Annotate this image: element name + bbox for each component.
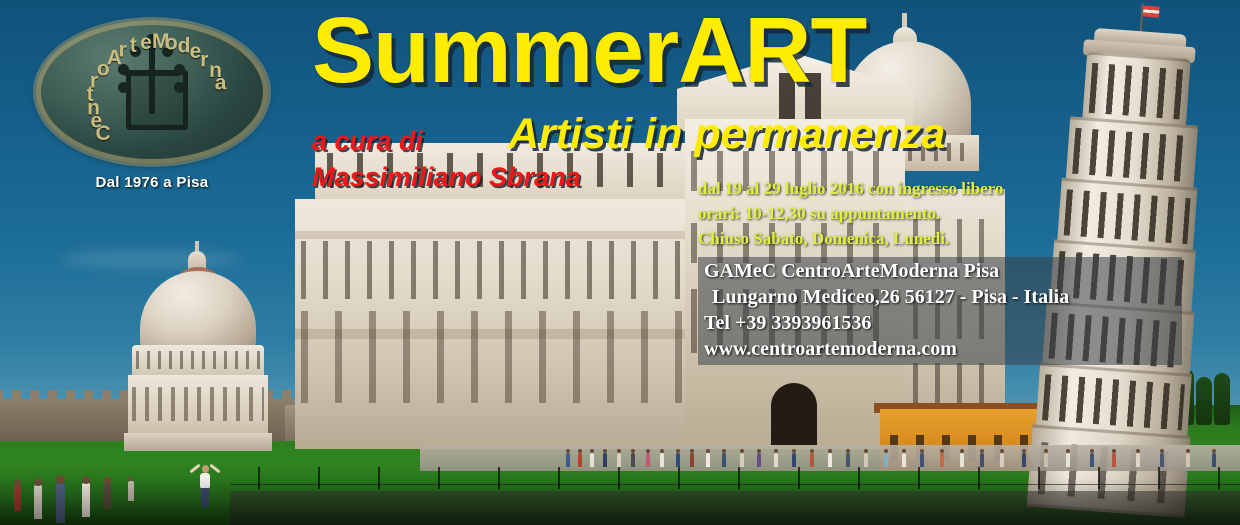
event-info-block: dal 19 al 29 luglio 2016 con ingresso li… [698, 176, 1178, 251]
centroartemoderna-logo[interactable]: C e n t r o A r t e M o d e r n a Dal 19… [28, 14, 276, 204]
info-line-hours: orari: 10-12,30 su appuntamento. [698, 201, 1178, 226]
address-line-website[interactable]: www.centroartemoderna.com [704, 336, 1184, 362]
curator-name: Massimiliano Sbrana [312, 162, 581, 193]
foreground-shadow [0, 477, 1240, 525]
address-block: GAMeC CentroArteModerna Pisa Lungarno Me… [704, 258, 1184, 362]
tree [1214, 373, 1230, 425]
info-line-closed: Chiuso Sabato, Domenica, Lunedi. [698, 226, 1178, 251]
logo-tagline: Dal 1976 a Pisa [28, 174, 276, 191]
address-line-street: Lungarno Mediceo,26 56127 - Pisa - Itali… [704, 284, 1184, 310]
poster-canvas: C e n t r o A r t e M o d e r n a Dal 19… [0, 0, 1240, 525]
address-line-venue: GAMeC CentroArteModerna Pisa [704, 258, 1184, 284]
poster-title: SummerART [312, 4, 866, 97]
logo-curved-text: C e n t r o A r t e M o d e r n a [36, 20, 268, 164]
curator-prefix: a cura di [312, 126, 423, 157]
baptistery-building [118, 237, 278, 437]
address-line-phone: Tel +39 3393961536 [704, 310, 1184, 336]
info-line-dates: dal 19 al 29 luglio 2016 con ingresso li… [698, 176, 1178, 201]
poster-subtitle: Artisti in permanenza [508, 110, 945, 159]
